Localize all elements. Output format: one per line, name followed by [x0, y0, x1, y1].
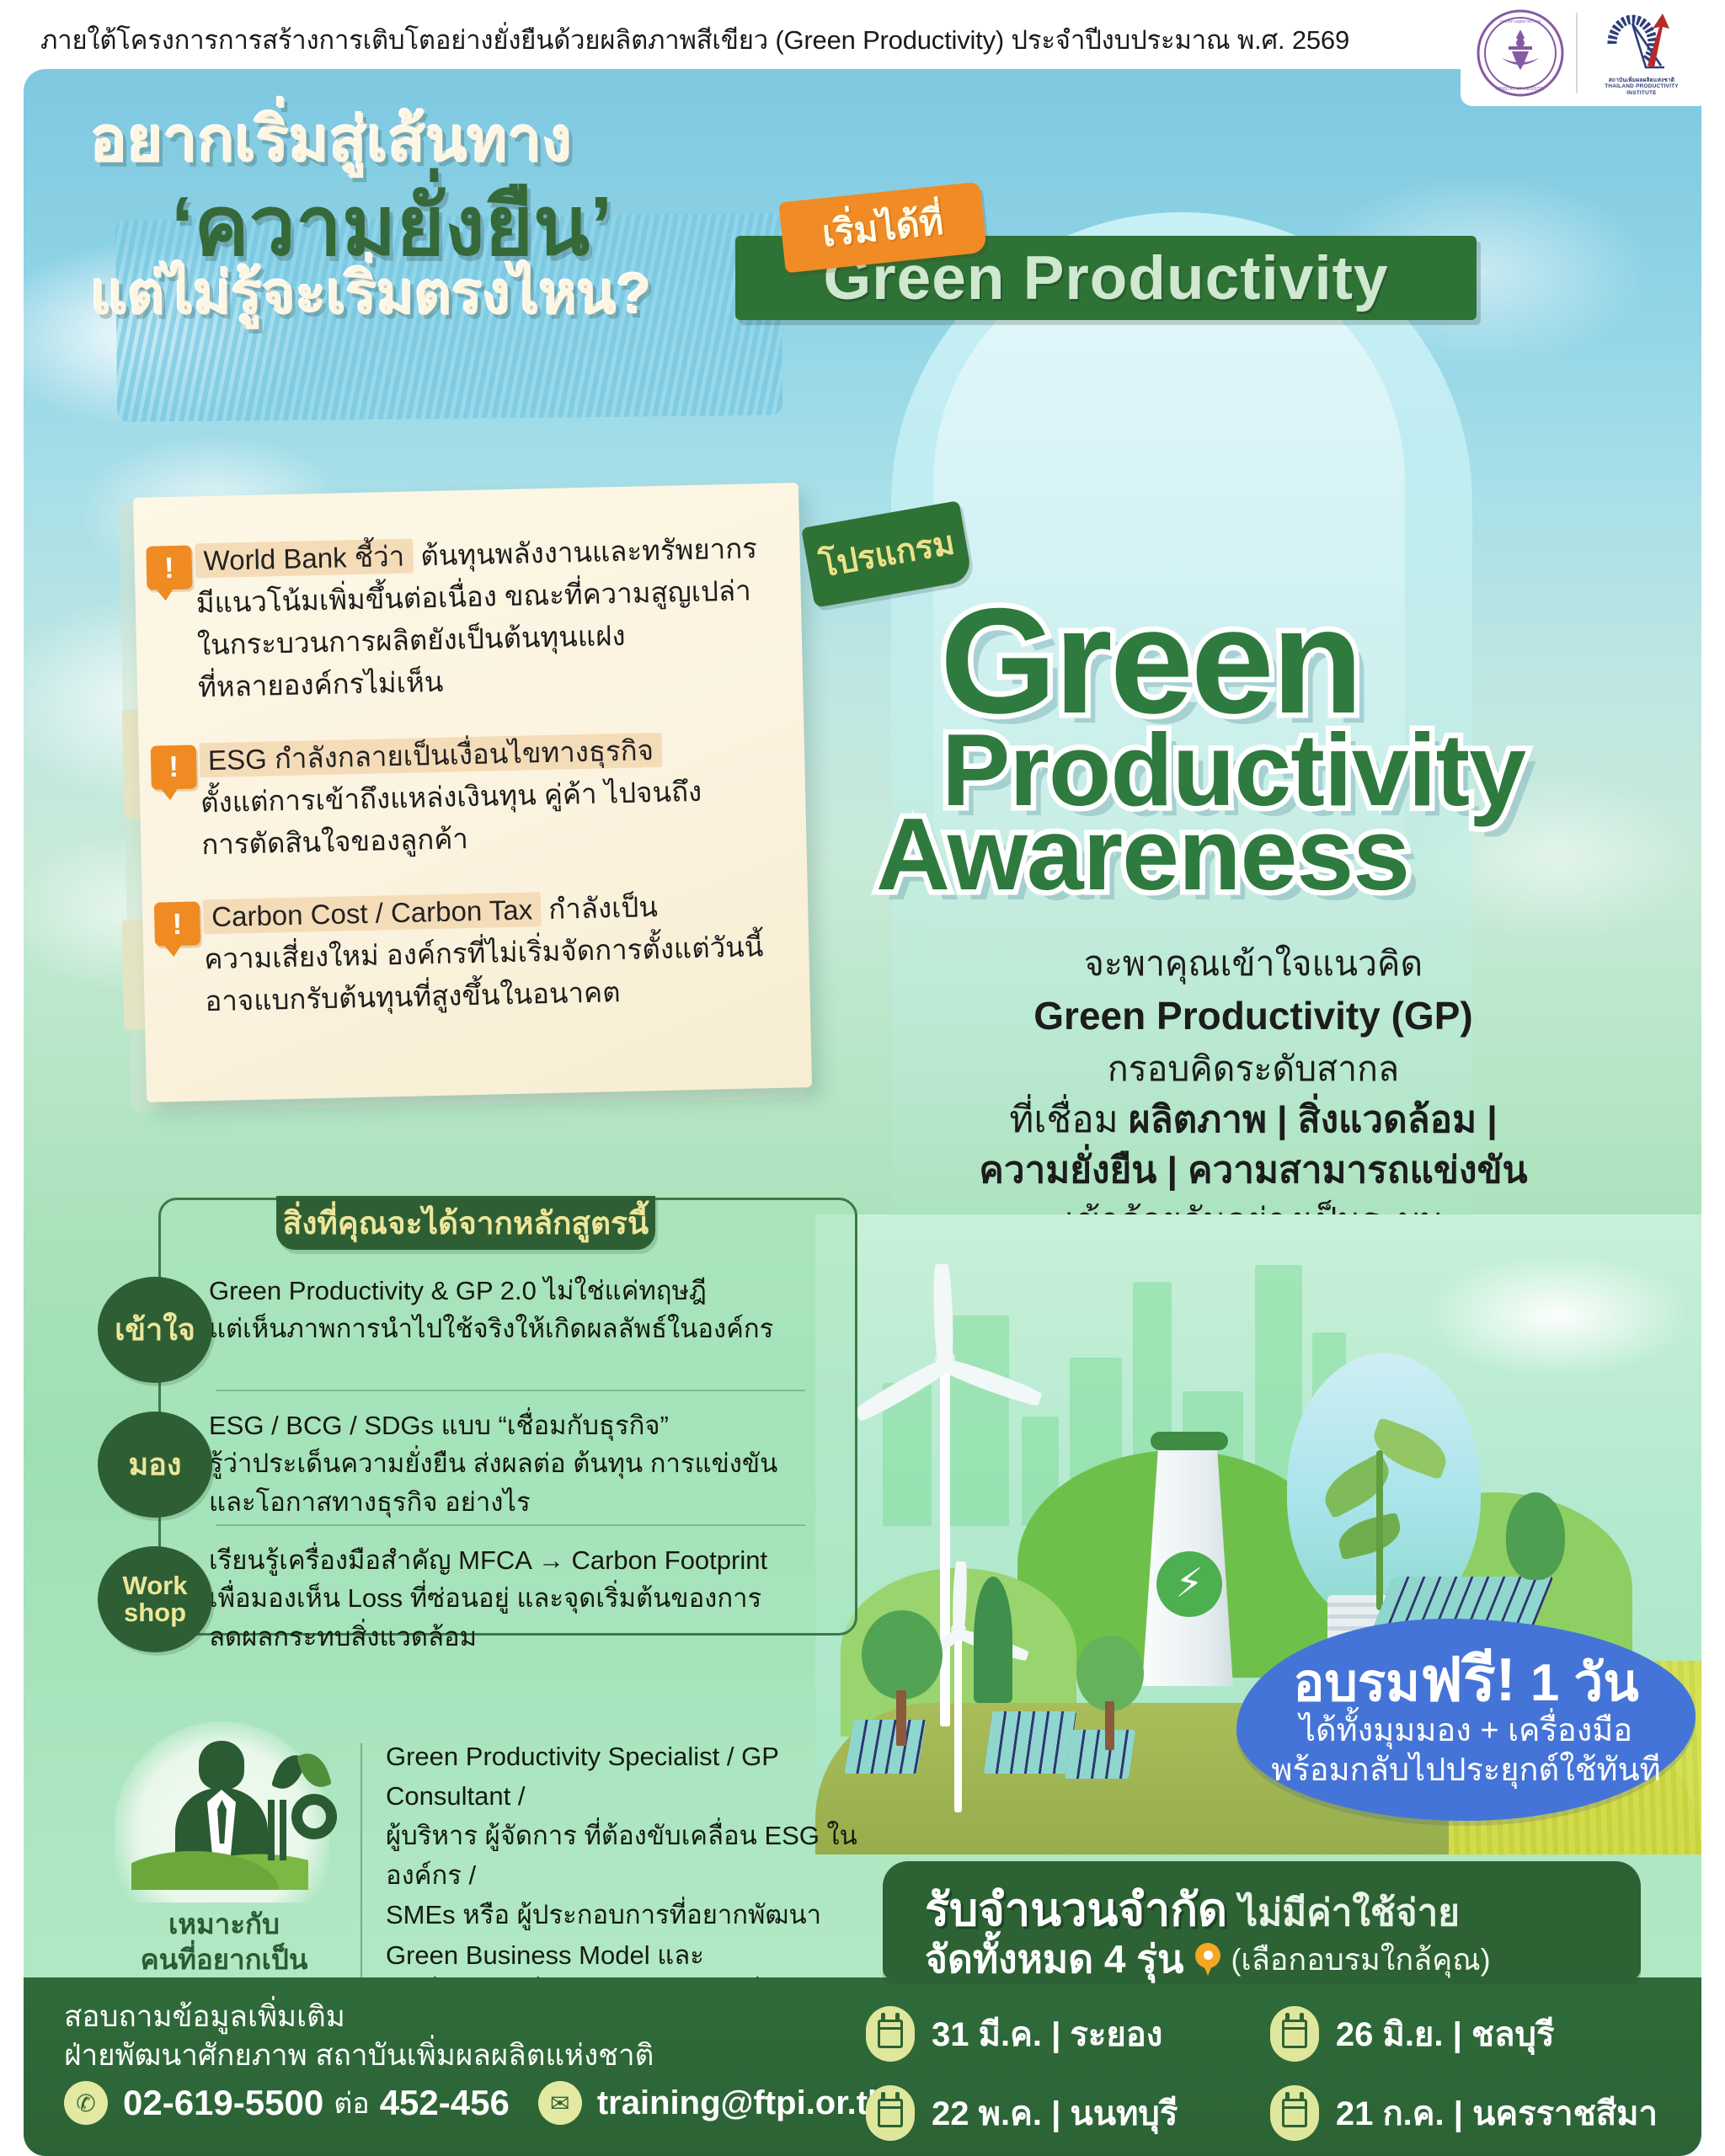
insight-bullet-line: การตัดสินใจของลูกค้า [201, 823, 468, 860]
exclamation-icon: ! [151, 744, 197, 789]
benefit-line: ESG / BCG / SDGs แบบ “เชื่อมกับธุรกิจ” [209, 1411, 669, 1440]
benefit-pill-label: มอง [129, 1449, 182, 1481]
audience-list: Green Productivity Specialist / GP Consu… [386, 1737, 908, 2015]
solar-panel-icon [984, 1711, 1076, 1774]
footer-bar: สอบถามข้อมูลเพิ่มเติม ฝ่ายพัฒนาศักยภาพ ส… [24, 1977, 1701, 2156]
bush-icon [1506, 1492, 1565, 1580]
free-training-badge: อบรมฟรี! 1 วัน ได้ทั้งมุมมอง + เครื่องมื… [1236, 1619, 1696, 1821]
audience-caption-line-2: คนที่อยากเป็น [98, 1942, 350, 1977]
schedule-item[interactable]: 21 ก.ค. | นครราชสีมา [1270, 2085, 1658, 2141]
gear-icon [291, 1794, 337, 1839]
insight-bullet-body: World Bank ชี้ว่า ต้นทุนพลังงานและทรัพยา… [195, 527, 766, 709]
insight-bullet-highlight: Carbon Cost / Carbon Tax [203, 892, 542, 934]
audience-line: ผู้บริหาร ผู้จัดการ ที่ต้องขับเคลื่อน ES… [386, 1821, 857, 1890]
svg-text:MINISTRY OF INDUSTRY: MINISTRY OF INDUSTRY [1496, 87, 1546, 92]
tree-icon [862, 1610, 943, 1700]
calendar-icon [866, 2085, 915, 2141]
insight-bullet-lead: กำลังเป็น [541, 891, 659, 925]
solar-panel-icon [1065, 1730, 1135, 1779]
footer-email[interactable]: training@ftpi.or.th [597, 2084, 889, 2122]
benefit-line: แต่เห็นภาพการนำไปใช้จริงให้เกิดผลลัพธ์ใน… [209, 1314, 773, 1343]
seats-headline: รับจำนวนจำกัด [925, 1885, 1227, 1935]
benefits-heading-label: สิ่งที่คุณจะได้จากหลักสูตรนี้ [283, 1198, 649, 1248]
benefit-text: ESG / BCG / SDGs แบบ “เชื่อมกับธุรกิจ” ร… [209, 1406, 832, 1521]
bar-chart-icon [268, 1800, 291, 1860]
audience-caption: เหมาะกับ คนที่อยากเป็น [98, 1907, 350, 1977]
desc-line-4: ที่เชื่อม ผลิตภาพ | สิ่งแวดล้อม | [866, 1096, 1641, 1145]
benefit-row: Workshop เรียนรู้เครื่องมือสำคัญ MFCA → … [209, 1541, 832, 1656]
footer-ext: 452-456 [380, 2083, 510, 2123]
benefit-pill: มอง [98, 1412, 212, 1518]
benefit-text: Green Productivity & GP 2.0 ไม่ใช่แค่ทฤษ… [209, 1272, 832, 1348]
insight-bullet-body: ESG กำลังกลายเป็นเงื่อนไขทางธุรกิจ ตั้งแ… [199, 727, 769, 867]
audience-line: SMEs หรือ ผู้ประกอบการที่อยากพัฒนา [386, 1900, 821, 1929]
insight-bullet-line: ตั้งแต่การเข้าถึงแหล่งเงินทุน คู่ค้า ไปจ… [200, 776, 702, 818]
schedule-label: 26 มิ.ย. | ชลบุรี [1336, 2007, 1555, 2061]
audience-divider [360, 1743, 362, 1996]
calendar-icon [866, 2006, 915, 2062]
schedule-label: 22 พ.ค. | นนทบุรี [932, 2086, 1178, 2140]
limited-seats-panel: รับจำนวนจำกัดไม่มีค่าใช้จ่าย จัดทั้งหมด … [883, 1861, 1641, 1979]
schedule-label: 21 ก.ค. | นครราชสีมา [1336, 2086, 1658, 2140]
benefit-line: และโอกาสทางธุรกิจ อย่างไร [209, 1487, 531, 1517]
benefit-line: เพื่อมองเห็น Loss ที่ซ่อนอยู่ และจุดเริ่… [209, 1583, 761, 1613]
insight-bullet-line: ในกระบวนการผลิตยังเป็นต้นทุนแฝง [197, 620, 626, 661]
seats-rounds: จัดทั้งหมด 4 รุ่น [925, 1929, 1183, 1990]
factory-stack-top [1151, 1432, 1228, 1450]
benefit-divider [216, 1524, 805, 1526]
benefit-line: ลดผลกระทบสิ่งแวดล้อม [209, 1622, 477, 1652]
desc-line-5: ความยั่งยืน | ความสามารถแข่งขัน [866, 1146, 1641, 1196]
svg-text:กระทรวงอุตสาหกรรม: กระทรวงอุตสาหกรรม [1500, 19, 1541, 24]
insight-bullet: ! World Bank ชี้ว่า ต้นทุนพลังงานและทรัพ… [195, 527, 766, 709]
audience-line: Green Business Model และ [386, 1940, 704, 1970]
insight-bullet-highlight: World Bank ชี้ว่า [195, 539, 413, 579]
insight-sticky-note: ! World Bank ชี้ว่า ต้นทุนพลังงานและทรัพ… [133, 483, 812, 1102]
benefit-row: เข้าใจ Green Productivity & GP 2.0 ไม่ใช… [209, 1272, 832, 1348]
desc-line-4-prefix: ที่เชื่อม [1009, 1099, 1129, 1140]
benefit-line: Green Productivity & GP 2.0 ไม่ใช่แค่ทฤษ… [209, 1276, 707, 1305]
schedule-item[interactable]: 22 พ.ค. | นนทบุรี [866, 2085, 1245, 2141]
logo-divider [1576, 13, 1578, 93]
exclamation-icon: ! [154, 901, 200, 946]
schedule-list: 31 มี.ค. | ระยอง 26 มิ.ย. | ชลบุรี 22 พ.… [866, 2006, 1658, 2141]
audience-caption-line-1: เหมาะกับ [98, 1907, 350, 1942]
desc-line-4-bold: ผลิตภาพ | สิ่งแวดล้อม | [1129, 1099, 1498, 1140]
footer-line-2: ฝ่ายพัฒนาศักยภาพ สถาบันเพิ่มผลผลิตแห่งชา… [64, 2036, 654, 2075]
tree-trunk [1105, 1701, 1114, 1750]
benefit-line: เรียนรู้เครื่องมือสำคัญ MFCA → Carbon Fo… [209, 1545, 767, 1575]
desc-line-2: Green Productivity (GP) [866, 990, 1641, 1043]
benefit-line: รู้ว่าประเด็นความยั่งยืน ส่งผลต่อ ต้นทุน… [209, 1449, 777, 1478]
title-awareness: Awareness [876, 795, 1409, 913]
ftpi-logo-caption: สถาบันเพิ่มผลผลิตแห่งชาติ THAILAND PRODU… [1589, 77, 1694, 96]
free-badge-line-2: ได้ทั้งมุมมอง + เครื่องมือ [1300, 1711, 1632, 1750]
free-badge-line-3: พร้อมกลับไปประยุกต์ใช้ทันที [1271, 1751, 1660, 1790]
cloud-icon [1422, 1252, 1691, 1379]
pine-tree-icon [974, 1577, 1012, 1703]
program-subtitle: ภายใต้โครงการการสร้างการเติบโตอย่างยั่งย… [40, 19, 1349, 61]
schedule-item[interactable]: 26 มิ.ย. | ชลบุรี [1270, 2006, 1658, 2062]
footer-ext-label: ต่อ [334, 2080, 370, 2126]
calendar-icon [1270, 2006, 1319, 2062]
program-description: จะพาคุณเข้าใจแนวคิด Green Productivity (… [866, 941, 1641, 1244]
tree-icon [1076, 1636, 1144, 1711]
insight-bullet-line: ความเสี่ยงใหม่ องค์กรที่ไม่เริ่มจัดการตั… [204, 931, 764, 974]
desc-line-3: กรอบคิดระดับสากล [866, 1046, 1641, 1092]
insight-bullet-body: Carbon Cost / Carbon Tax กำลังเป็น ความเ… [203, 883, 773, 1023]
phone-icon: ✆ [64, 2081, 108, 2125]
insight-bullet-line: ที่หลายองค์กรไม่เห็น [198, 666, 444, 703]
email-icon: ✉ [538, 2081, 582, 2125]
insight-bullet: ! ESG กำลังกลายเป็นเงื่อนไขทางธุรกิจ ตั้… [199, 727, 769, 867]
benefit-row: มอง ESG / BCG / SDGs แบบ “เชื่อมกับธุรกิ… [209, 1406, 832, 1521]
benefit-pill: เข้าใจ [98, 1277, 212, 1383]
insight-bullet: ! Carbon Cost / Carbon Tax กำลังเป็น ควา… [203, 883, 773, 1023]
insight-bullet-lead: ต้นทุนพลังงานและทรัพยากร [413, 532, 758, 571]
footer-phone[interactable]: 02-619-5500 [123, 2083, 323, 2123]
exclamation-icon: ! [146, 545, 192, 590]
benefit-divider [216, 1390, 805, 1391]
benefit-pill: Workshop [98, 1546, 212, 1652]
logo-panel: กระทรวงอุตสาหกรรม MINISTRY OF INDUSTRY ส… [1461, 0, 1710, 106]
footer-contact-heading: สอบถามข้อมูลเพิ่มเติม ฝ่ายพัฒนาศักยภาพ ส… [64, 1998, 654, 2075]
start-here-ribbon-label: เริ่มได้ที่ [820, 193, 946, 263]
hero-line-3: แต่ไม่รู้จะเริ่มตรงไหน? [91, 248, 651, 339]
insight-bullet-line: อาจแบกรับต้นทุนที่สูงขึ้นในอนาคต [205, 976, 621, 1017]
seats-free-note: ไม่มีค่าใช้จ่าย [1239, 1892, 1460, 1934]
footer-contact-row: ✆ 02-619-5500 ต่อ 452-456 ✉ training@ftp… [64, 2080, 888, 2126]
seats-pin-note: (เลือกอบรมใกล้คุณ) [1231, 1935, 1490, 1983]
location-pin-icon [1195, 1943, 1220, 1977]
plant-stem [1376, 1450, 1383, 1610]
insight-bullet-highlight: ESG กำลังกลายเป็นเงื่อนไขทางธุรกิจ [200, 733, 663, 777]
benefit-pill-label: เข้าใจ [115, 1315, 195, 1346]
calendar-icon [1270, 2085, 1319, 2141]
audience-line: Green Productivity Specialist / GP Consu… [386, 1742, 778, 1811]
footer-line-1: สอบถามข้อมูลเพิ่มเติม [64, 1998, 654, 2036]
insight-bullet-line: มีแนวโน้มเพิ่มขึ้นต่อเนื่อง ขณะที่ความสู… [195, 575, 751, 619]
ministry-of-industry-logo: กระทรวงอุตสาหกรรม MINISTRY OF INDUSTRY [1477, 9, 1564, 97]
schedule-label: 31 มี.ค. | ระยอง [932, 2007, 1162, 2061]
benefit-pill-label: Workshop [123, 1572, 188, 1625]
schedule-item[interactable]: 31 มี.ค. | ระยอง [866, 2006, 1245, 2062]
energy-bolt-icon: ⚡ [1156, 1551, 1222, 1617]
free-badge-line-1: อบรมฟรี! 1 วัน [1293, 1650, 1639, 1711]
desc-line-1: จะพาคุณเข้าใจแนวคิด [866, 941, 1641, 987]
benefits-heading-tab: สิ่งที่คุณจะได้จากหลักสูตรนี้ [276, 1196, 655, 1250]
program-tag-label: โปรแกรม [815, 516, 959, 591]
seats-rounds-row: จัดทั้งหมด 4 รุ่น (เลือกอบรมใกล้คุณ) [925, 1929, 1491, 1990]
benefit-text: เรียนรู้เครื่องมือสำคัญ MFCA → Carbon Fo… [209, 1541, 832, 1656]
poster-canvas: อยากเริ่มสู่เส้นทาง ‘ความยั่งยืน’ แต่ไม่… [24, 69, 1701, 2156]
thailand-productivity-institute-logo: สถาบันเพิ่มผลผลิตแห่งชาติ THAILAND PRODU… [1589, 8, 1694, 99]
